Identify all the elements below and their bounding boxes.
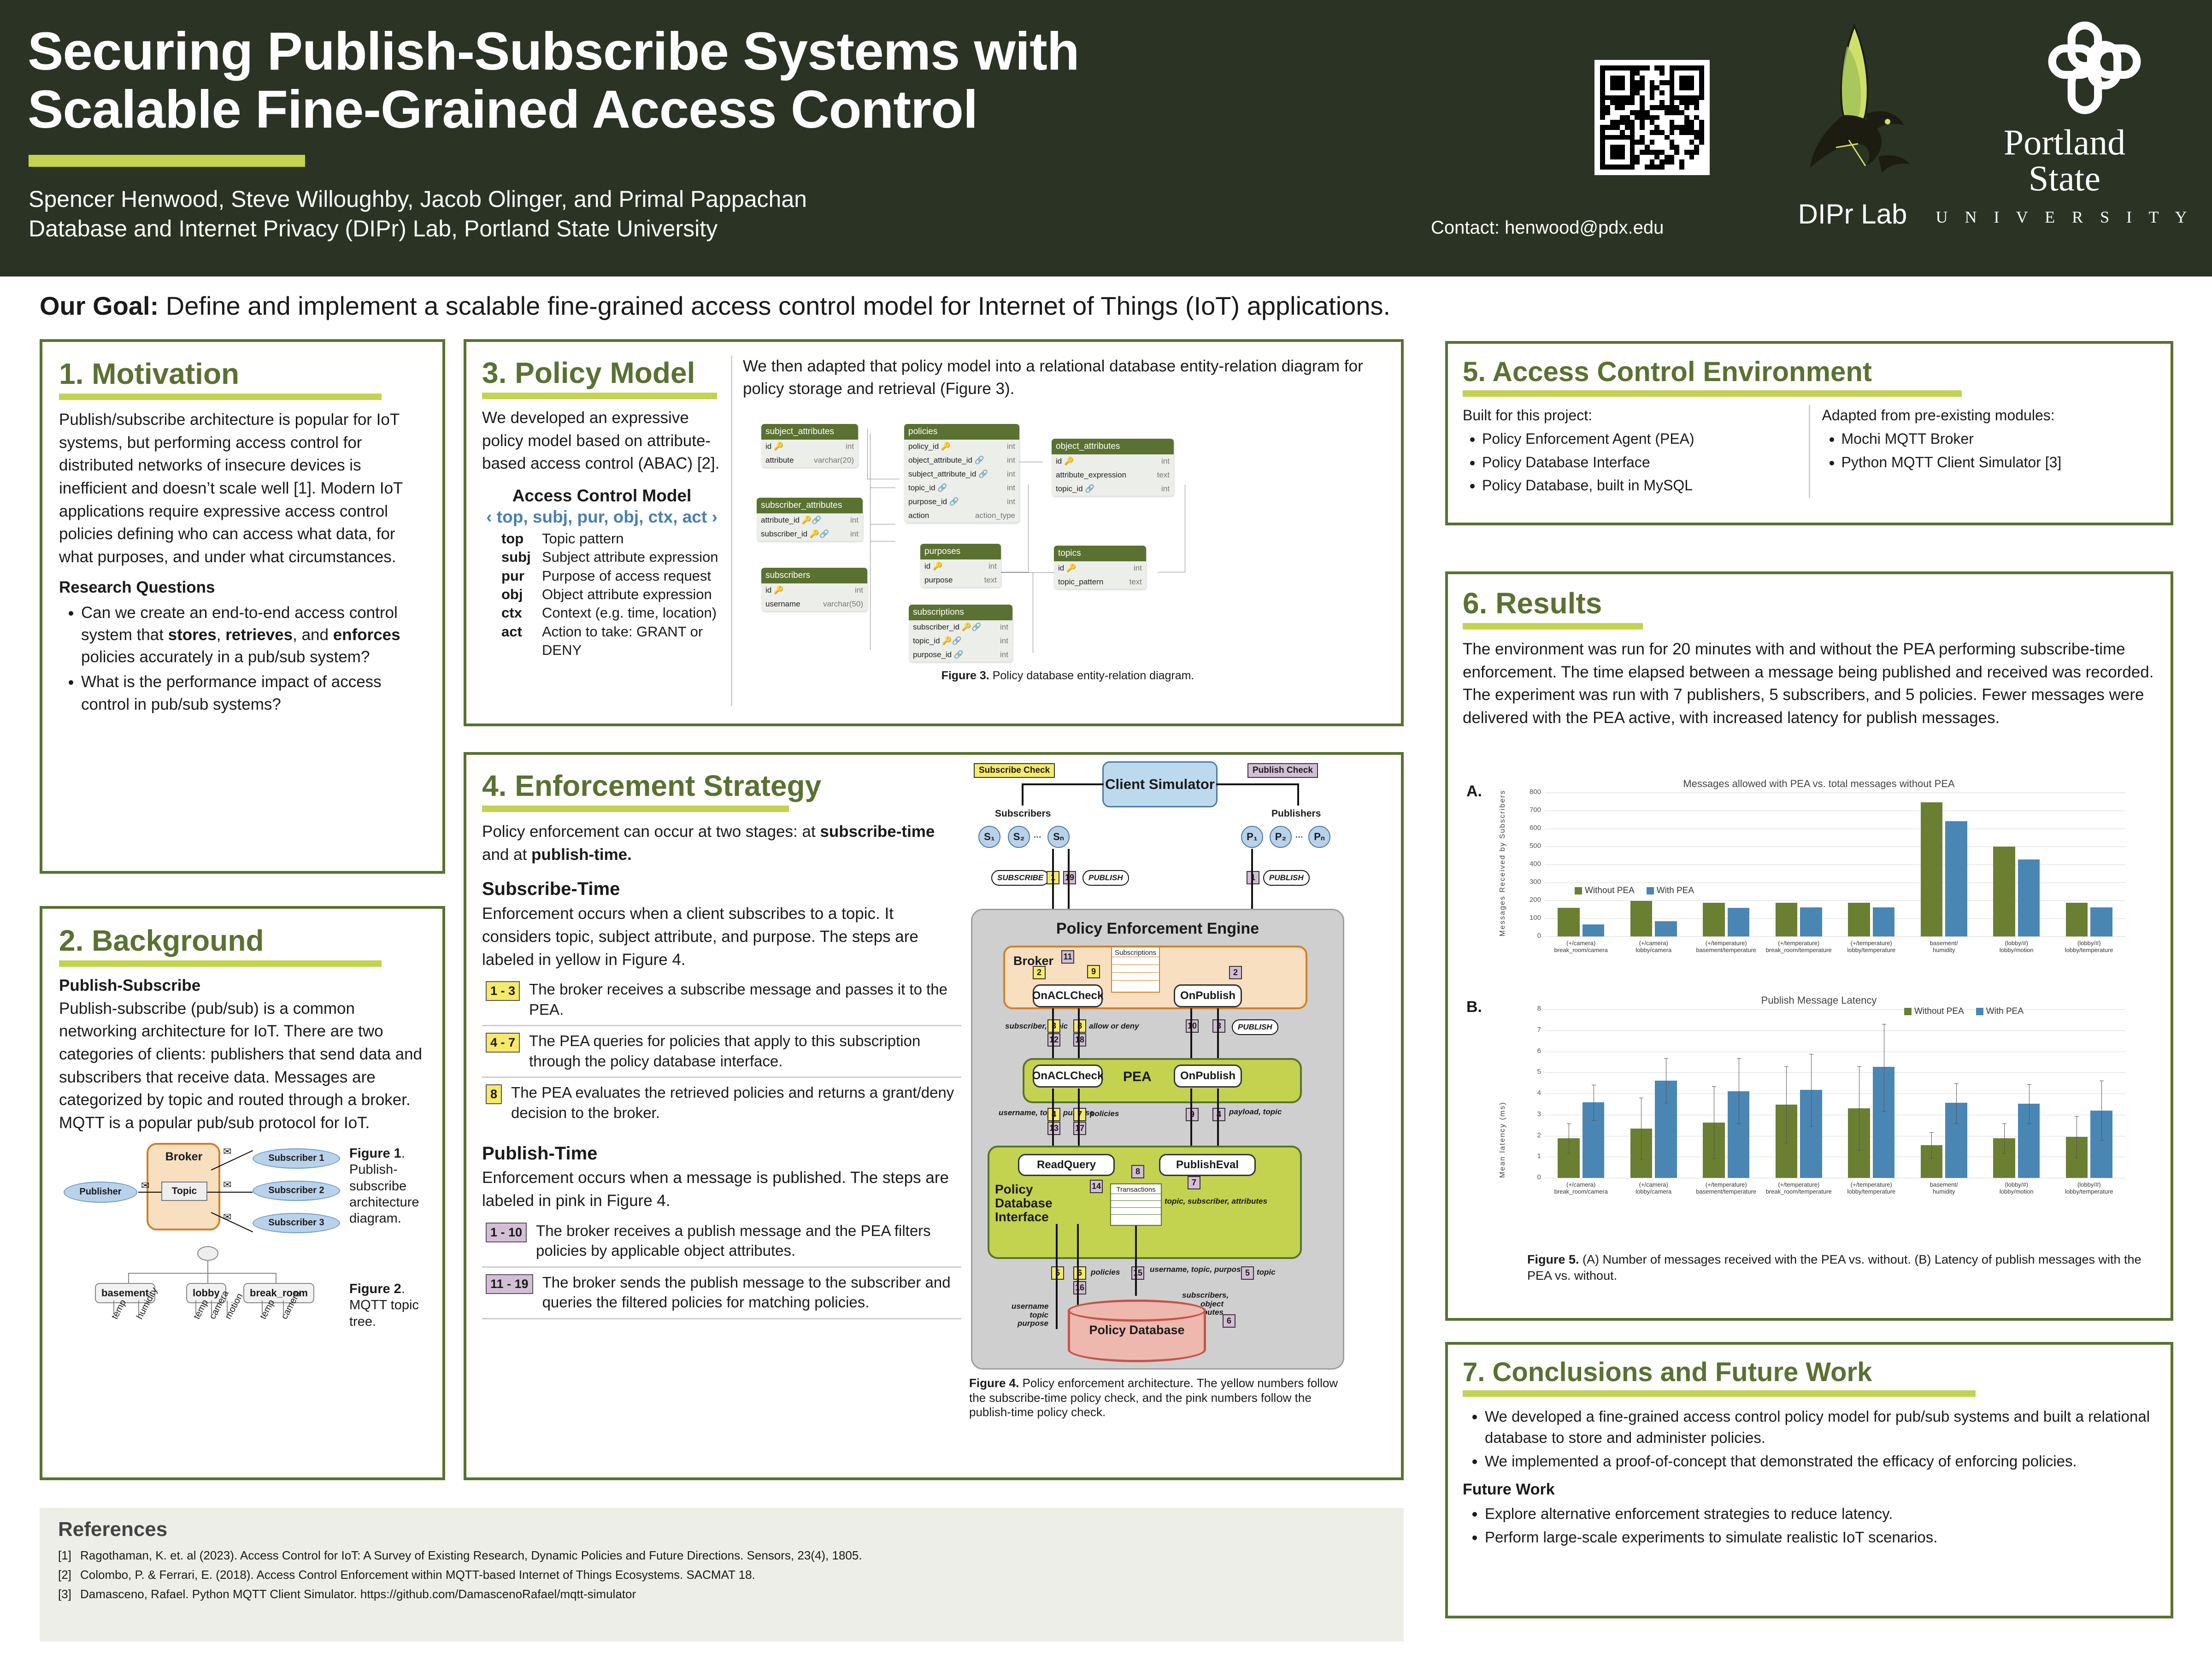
section-1-underline [59, 394, 382, 400]
section-4-title: 4. Enforcement Strategy [482, 769, 961, 803]
envelope-icon: ✉ [223, 1146, 231, 1158]
goal-label: Our Goal: [40, 291, 159, 320]
connector-publisher-topic [138, 1192, 161, 1193]
publish-time-paragraph: Enforcement occurs when a message is pub… [482, 1166, 961, 1212]
section-motivation: 1. Motivation Publish/subscribe architec… [40, 339, 445, 874]
step-number: 9 [1087, 965, 1100, 978]
subscribe-time-steps: 1 - 3The broker receives a subscribe mes… [482, 975, 961, 1128]
publish-bubble: PUBLISH [1232, 1019, 1278, 1035]
broker-onaclcheck-box: OnACLCheck [1033, 984, 1103, 1007]
step-number: 1 [1247, 871, 1259, 884]
chart-publish-latency[interactable]: Publish Message LatencyMean latency (ms)… [1494, 994, 2144, 1242]
broker-onpublish-box: OnPublish [1174, 984, 1242, 1007]
policy-database-top [1068, 1300, 1206, 1322]
er-table-purposes: purposes id 🔑int purposetext [920, 544, 1001, 587]
list-item: Policy Database Interface [1482, 452, 1797, 472]
list-item: We developed a fine-grained access contr… [1485, 1406, 2156, 1448]
section-1-title: 1. Motivation [59, 357, 426, 391]
dipr-lab-label: DIPr Lab [1742, 198, 1963, 230]
tree-branch [128, 1273, 129, 1284]
engine-title: Policy Enforcement Engine [971, 920, 1344, 938]
step-number: 14 [1090, 1180, 1103, 1193]
section-policy-model: 3. Policy Model We developed an expressi… [464, 339, 1404, 726]
step-row: 8The PEA evaluates the retrieved policie… [482, 1078, 961, 1128]
arrow [1022, 783, 1104, 785]
subscriber-node-3: Subscriber 3 [253, 1213, 340, 1233]
step-number: 7 [1073, 1108, 1086, 1121]
subscribers-label: Subscribers [995, 808, 1051, 819]
figure-4-architecture: Subscribe Check Publish Check Client Sim… [971, 763, 1386, 1413]
poster-title-line1: Securing Publish-Subscribe Systems with [28, 22, 1364, 80]
arrow [1190, 1008, 1192, 1059]
subscribe-check-tag: Subscribe Check [974, 763, 1055, 778]
goal-text: Define and implement a scalable fine-gra… [159, 291, 1390, 320]
section-conclusions: 7. Conclusions and Future Work We develo… [1445, 1342, 2173, 1618]
step-number: 8 [1073, 1019, 1086, 1033]
access-control-model-title: Access Control Model [482, 486, 722, 506]
section-3-title: 3. Policy Model [482, 356, 722, 390]
figure-4-caption-text: Policy enforcement architecture. The yel… [969, 1376, 1338, 1419]
acm-row: purPurpose of access request [482, 567, 722, 585]
publish-subscribe-subheading: Publish-Subscribe [59, 974, 426, 997]
built-list: Policy Enforcement Agent (PEA) Policy Da… [1482, 429, 1797, 495]
step-number: 4 [1212, 1108, 1225, 1121]
topic-tree-root [197, 1246, 218, 1261]
subscriptions-label: Subscriptions [1112, 947, 1159, 957]
access-control-model-tuple: ‹ top, subj, pur, obj, ctx, act › [482, 507, 722, 527]
psu-logo [2041, 18, 2147, 120]
poster-title: Securing Publish-Subscribe Systems with … [28, 22, 1364, 139]
motivation-paragraph: Publish/subscribe architecture is popula… [59, 408, 426, 569]
publisher-node: P₁ [1241, 826, 1263, 848]
section-enforcement-strategy: 4. Enforcement Strategy Policy enforceme… [464, 752, 1404, 1480]
arrow [1052, 1088, 1054, 1147]
figure-3-caption-text: Policy database entity-relation diagram. [989, 669, 1194, 682]
subscriber-node-2: Subscriber 2 [253, 1181, 340, 1201]
step-number: 6 [1223, 1314, 1235, 1328]
contact-email: Contact: henwood@pdx.edu [1431, 218, 1664, 238]
reference-item: [2]Colombo, P. & Ferrari, E. (2018). Acc… [58, 1565, 1385, 1584]
list-item: What is the performance impact of access… [81, 671, 426, 716]
step-number: 15 [1131, 1266, 1144, 1280]
step-chip: 1 - 10 [486, 1223, 527, 1242]
er-intro-text: We then adapted that policy model into a… [743, 355, 1379, 400]
step-number: 7 [1188, 1176, 1200, 1189]
acm-row: topTopic pattern [482, 529, 722, 548]
subscriptions-table: Subscriptions [1111, 947, 1160, 993]
reference-item: [3]Damasceno, Rafael. Python MQTT Client… [58, 1584, 1385, 1604]
label-payload-topic: payload, topic [1229, 1108, 1282, 1117]
dipr-bird-logo [1770, 18, 1935, 203]
section-results: 6. Results The environment was run for 2… [1445, 571, 2173, 1321]
arrow [1068, 849, 1070, 910]
figure-2-caption-label: Figure 2 [349, 1282, 401, 1296]
er-connector [1158, 485, 1185, 572]
acm-row: objObject attribute expression [482, 585, 722, 604]
figure-4-caption: Figure 4. Policy enforcement architectur… [969, 1376, 1347, 1420]
built-heading: Built for this project: [1463, 405, 1797, 426]
psu-name: Portland State [1935, 124, 2194, 196]
step-number: 19 [1063, 871, 1076, 884]
step-number: 8 [1131, 1165, 1144, 1178]
step-number: 2 [1229, 966, 1242, 979]
section-4-underline [482, 806, 789, 812]
title-accent-rule [29, 155, 305, 167]
publishers-label: Publishers [1271, 808, 1321, 819]
broker-label: Broker [149, 1150, 218, 1164]
label-username-topic-purpose: usernametopicpurpose [1012, 1302, 1048, 1328]
panel-label-b: B. [1466, 998, 1482, 1016]
step-number: 12 [1047, 1033, 1060, 1047]
tree-branch [207, 1273, 208, 1284]
arrow [1078, 1088, 1080, 1147]
arrow [1022, 783, 1024, 806]
list-item: Policy Database, built in MySQL [1482, 475, 1797, 495]
psu-name-line2: State [1935, 160, 2194, 196]
arrow [1217, 1008, 1219, 1059]
step-row: 1 - 10The broker receives a publish mess… [482, 1216, 961, 1268]
er-connector [870, 541, 895, 650]
label-topic-subscriber-attributes: topic, subscriber, attributes [1165, 1197, 1267, 1206]
arrow [1217, 1088, 1219, 1147]
publish-bubble: PUBLISH [1263, 870, 1310, 886]
step-number: 2 [1033, 966, 1046, 979]
connector-topic-sub2 [207, 1192, 253, 1193]
er-table-subscriptions: subscriptions subscriber_id 🔑🔗int topic_… [909, 605, 1012, 662]
step-number: 10 [1186, 1019, 1199, 1033]
step-number: 5 [1051, 1266, 1064, 1280]
step-row: 11 - 19The broker sends the publish mess… [482, 1268, 961, 1319]
figure-5-caption-text: (A) Number of messages received with the… [1527, 1253, 2141, 1282]
author-list: Spencer Henwood, Steve Willoughby, Jacob… [29, 184, 1365, 214]
label-policies: policies [1090, 1110, 1119, 1118]
subscribe-time-heading: Subscribe-Time [482, 876, 961, 902]
pea-onaclcheck-box: OnACLCheck [1033, 1065, 1103, 1088]
env-built-column: Built for this project: Policy Enforceme… [1463, 405, 1809, 498]
step-number: 17 [1073, 1122, 1086, 1135]
section-6-title: 6. Results [1463, 586, 2156, 620]
chart-messages-allowed[interactable]: Messages allowed with PEA vs. total mess… [1494, 777, 2144, 984]
step-text: The broker sends the publish message to … [542, 1272, 961, 1312]
readquery-box: ReadQuery [1018, 1154, 1115, 1176]
er-table-subscriber-attributes: subscriber_attributes attribute_id 🔑🔗int… [757, 498, 863, 541]
figure-1-caption-label: Figure 1 [349, 1146, 401, 1161]
list-item: Explore alternative enforcement strategi… [1485, 1503, 2156, 1524]
qr-code-matrix [1600, 65, 1704, 170]
arrow [1078, 1008, 1080, 1059]
policy-database-label: Policy Database [1068, 1324, 1206, 1337]
step-number: 3 [1047, 1019, 1060, 1033]
panel-label-a: A. [1466, 782, 1482, 800]
envelope-icon: ✉ [223, 1211, 231, 1223]
label-allow-deny: allow or deny [1089, 1022, 1139, 1031]
acm-row: actAction to take: GRANT or DENY [482, 623, 722, 660]
author-block: Spencer Henwood, Steve Willoughby, Jacob… [29, 184, 1365, 243]
arrow [1251, 849, 1253, 910]
step-text: The PEA queries for policies that apply … [529, 1031, 961, 1071]
arrow [1216, 783, 1299, 785]
er-table-policies: policies policy_id 🔑int object_attribute… [904, 424, 1019, 523]
step-number: 18 [1073, 1033, 1086, 1047]
publish-bubble: PUBLISH [1082, 870, 1129, 886]
step-chip: 11 - 19 [486, 1274, 533, 1294]
label-username-topic-purpose: username, topic, purpose [1150, 1265, 1245, 1274]
list-item: Perform large-scale experiments to simul… [1485, 1527, 2156, 1548]
acm-row: ctxContext (e.g. time, location) [482, 604, 722, 622]
step-number: 3 [1212, 1019, 1225, 1033]
section-3-underline [482, 393, 717, 399]
goal-statement: Our Goal: Define and implement a scalabl… [40, 290, 2067, 321]
step-number: 11 [1061, 950, 1074, 964]
figure-5-caption: Figure 5. (A) Number of messages receive… [1527, 1252, 2149, 1283]
list-item: Mochi MQTT Broker [1841, 429, 2156, 449]
step-row: 4 - 7The PEA queries for policies that a… [482, 1026, 961, 1078]
step-row: 1 - 3The broker receives a subscribe mes… [482, 975, 961, 1026]
step-number: 6 [1073, 1266, 1086, 1280]
poster-header: Securing Publish-Subscribe Systems with … [0, 0, 2212, 276]
future-work-list: Explore alternative enforcement strategi… [1485, 1503, 2156, 1548]
subscriber-node: S₁ [978, 826, 1000, 848]
label-policies: policies [1091, 1268, 1120, 1277]
psu-university-word: U N I V E R S I T Y [1935, 207, 2194, 227]
adapted-list: Mochi MQTT Broker Python MQTT Client Sim… [1841, 429, 2156, 472]
publisher-node: Pₙ [1308, 826, 1330, 848]
label-topic: topic [1257, 1268, 1276, 1277]
tree-branch [276, 1273, 276, 1284]
envelope-icon: ✉ [141, 1180, 149, 1192]
step-text: The PEA evaluates the retrieved policies… [511, 1082, 961, 1123]
figure-1: Broker Topic Publisher Subscriber 1 Subs… [59, 1143, 423, 1235]
poster-title-line2: Scalable Fine-Grained Access Control [28, 80, 1364, 138]
er-table-subject-attributes: subject_attributes id 🔑int attributevarc… [761, 424, 858, 467]
arrow [1297, 783, 1299, 806]
publisher-node: Publisher [64, 1182, 137, 1203]
subscriber-node-1: Subscriber 1 [253, 1148, 340, 1169]
transactions-table: Transactions [1110, 1183, 1162, 1226]
pea-onpublish-box: OnPublish [1174, 1065, 1242, 1088]
publish-time-heading: Publish-Time [482, 1141, 961, 1167]
publish-time-steps: 1 - 10The broker receives a publish mess… [482, 1216, 961, 1319]
figure-2: basement lobby break_room temp humidity … [59, 1246, 423, 1343]
publisher-node: P₂ [1270, 826, 1292, 848]
er-table-topics: topics id 🔑int topic_patterntext [1054, 546, 1146, 589]
affiliation: Database and Internet Privacy (DIPr) Lab… [29, 214, 1365, 243]
list-item: Policy Enforcement Agent (PEA) [1482, 429, 1797, 449]
future-work-heading: Future Work [1463, 1478, 2156, 1500]
er-table-subscribers: subscribers id 🔑int usernamevarchar(50) [761, 568, 867, 611]
step-number: 9 [1186, 1108, 1199, 1121]
step-number: 13 [1047, 1122, 1060, 1135]
figure-3-caption: Figure 3. Policy database entity-relatio… [743, 669, 1393, 682]
section-7-underline [1463, 1390, 1976, 1397]
step-text: The broker receives a publish message an… [536, 1221, 961, 1261]
subscriber-node: S₂ [1008, 826, 1030, 848]
client-simulator-box: Client Simulator [1102, 761, 1218, 807]
envelope-icon: ✉ [223, 1179, 231, 1191]
arrow [1052, 1008, 1054, 1059]
section-2-title: 2. Background [59, 924, 426, 958]
research-questions-list: Can we create an end-to-end access contr… [81, 602, 426, 716]
section-6-underline [1463, 623, 1643, 629]
conclusions-list: We developed a fine-grained access contr… [1485, 1406, 2156, 1472]
env-adapted-column: Adapted from pre-existing modules: Mochi… [1810, 405, 2156, 498]
step-text: The broker receives a subscribe message … [529, 979, 961, 1019]
step-number: 16 [1073, 1281, 1086, 1294]
topic-node-break-room: break_room [243, 1283, 314, 1303]
er-table-object-attributes: object_attributes id 🔑int attribute_expr… [1052, 439, 1174, 496]
step-chip: 4 - 7 [486, 1033, 520, 1053]
ellipsis: ··· [1295, 833, 1303, 842]
results-paragraph: The environment was run for 20 minutes w… [1463, 638, 2156, 729]
figure-4-caption-label: Figure 4. [969, 1376, 1019, 1390]
enforcement-intro: Policy enforcement can occur at two stag… [482, 820, 961, 866]
section-5-underline [1463, 390, 1962, 397]
publisheval-box: PublishEval [1159, 1154, 1256, 1176]
topic-box: Topic [161, 1182, 207, 1201]
subscriber-node: Sₙ [1047, 826, 1070, 848]
list-item: We implemented a proof-of-concept that d… [1485, 1451, 2156, 1472]
arrow [1056, 1224, 1058, 1329]
figure-3-caption-label: Figure 3. [941, 669, 989, 682]
step-number: 5 [1241, 1266, 1254, 1280]
section-5-title: 5. Access Control Environment [1463, 356, 2156, 388]
background-paragraph: Publish-subscribe (pub/sub) is a common … [59, 997, 426, 1135]
list-item: Python MQTT Client Simulator [3] [1841, 452, 2156, 472]
pea-label: PEA [1123, 1069, 1152, 1085]
tree-stem [207, 1261, 208, 1273]
acm-row: subjSubject attribute expression [482, 548, 722, 566]
section-2-underline [59, 960, 382, 967]
qr-code[interactable] [1594, 60, 1710, 175]
subscribe-time-paragraph: Enforcement occurs when a client subscri… [482, 902, 961, 971]
step-chip: 8 [486, 1084, 502, 1104]
policy-model-paragraph: We developed an expressive policy model … [482, 406, 722, 475]
arrow [1135, 1226, 1137, 1296]
arrow [1052, 849, 1054, 910]
adapted-heading: Adapted from pre-existing modules: [1822, 405, 2156, 426]
publish-check-tag: Publish Check [1247, 763, 1318, 778]
vertical-divider [731, 356, 732, 706]
psu-name-line1: Portland [1935, 124, 2194, 160]
pdi-label: PolicyDatabaseInterface [995, 1182, 1053, 1224]
list-item: Can we create an end-to-end access contr… [81, 602, 426, 669]
figure-2-caption: Figure 2. MQTT topic tree. [349, 1281, 432, 1330]
research-questions-heading: Research Questions [59, 576, 426, 599]
figure-3-er-diagram: subject_attributes id 🔑int attributevarc… [743, 420, 1393, 678]
ellipsis: ··· [1034, 833, 1041, 842]
reference-item: [1]Ragothaman, K. et. al (2023). Access … [58, 1546, 1385, 1565]
subscribe-bubble: SUBSCRIBE [991, 870, 1049, 886]
arrow [1190, 1088, 1192, 1147]
figure-1-caption: Figure 1. Publish-subscribe architecture… [349, 1146, 432, 1227]
figure-5-caption-label: Figure 5. [1527, 1253, 1579, 1266]
references-title: References [58, 1518, 1385, 1541]
section-7-title: 7. Conclusions and Future Work [1463, 1357, 2156, 1388]
section-access-control-environment: 5. Access Control Environment Built for … [1445, 341, 2173, 525]
access-control-model-list: topTopic pattern subjSubject attribute e… [482, 529, 722, 659]
references-section: References [1]Ragothaman, K. et. al (202… [40, 1508, 1404, 1641]
tree-hbar [128, 1273, 276, 1274]
step-chip: 1 - 3 [486, 981, 520, 1001]
step-number: 4 [1047, 1108, 1060, 1121]
transactions-label: Transactions [1111, 1184, 1161, 1194]
section-background: 2. Background Publish-Subscribe Publish-… [40, 906, 445, 1480]
